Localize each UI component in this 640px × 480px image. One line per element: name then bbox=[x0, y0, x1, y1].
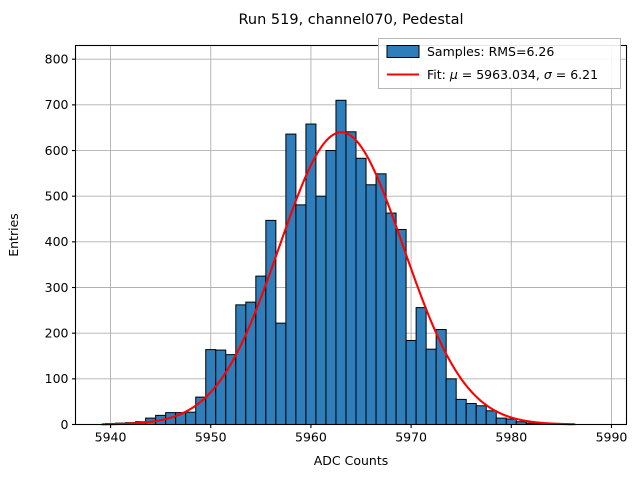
legend-label-fit: Fit: μ = 5963.034, σ = 6.21 bbox=[427, 67, 598, 82]
y-tick-label: 300 bbox=[45, 280, 69, 295]
histogram-bar bbox=[446, 379, 456, 425]
legend-swatch-samples bbox=[387, 46, 419, 58]
histogram-bar bbox=[366, 185, 376, 425]
histogram-bar bbox=[476, 406, 486, 425]
legend-fit-mu-symbol: μ bbox=[449, 67, 458, 82]
legend-fit-prefix: Fit: bbox=[427, 67, 450, 82]
x-axis-title: ADC Counts bbox=[314, 453, 389, 468]
y-axis-title: Entries bbox=[6, 213, 21, 257]
histogram-bar bbox=[416, 308, 426, 425]
x-tick-label: 5960 bbox=[295, 430, 327, 445]
histogram-bar bbox=[346, 132, 356, 425]
histogram-bar bbox=[296, 205, 306, 425]
x-tick-label: 5950 bbox=[195, 430, 227, 445]
histogram-bars bbox=[106, 100, 567, 424]
histogram-bar bbox=[306, 124, 316, 424]
histogram-bar bbox=[286, 134, 296, 424]
histogram-bar bbox=[266, 220, 276, 424]
histogram-bar bbox=[486, 411, 496, 425]
histogram-bar bbox=[426, 349, 436, 424]
y-tick-label: 400 bbox=[45, 234, 69, 249]
histogram-bar bbox=[496, 418, 506, 424]
y-tick-label: 700 bbox=[45, 97, 69, 112]
histogram-bar bbox=[326, 151, 336, 425]
histogram-plot: 0100200300400500600700800594059505960597… bbox=[0, 0, 640, 480]
histogram-bar bbox=[376, 174, 386, 425]
legend: Samples: RMS=6.26 Fit: μ = 5963.034, σ =… bbox=[379, 39, 621, 89]
y-tick-label: 100 bbox=[45, 371, 69, 386]
y-tick-label: 200 bbox=[45, 325, 69, 340]
x-tick-label: 5940 bbox=[95, 430, 127, 445]
y-tick-label: 600 bbox=[45, 143, 69, 158]
x-tick-label: 5990 bbox=[596, 430, 628, 445]
histogram-bar bbox=[406, 340, 416, 424]
figure-canvas: 0100200300400500600700800594059505960597… bbox=[0, 0, 640, 480]
x-tick-label: 5980 bbox=[495, 430, 527, 445]
histogram-bar bbox=[506, 419, 516, 424]
histogram-bar bbox=[316, 196, 326, 424]
y-tick-label: 0 bbox=[61, 417, 69, 432]
legend-fit-mu-value: 5963.034 bbox=[476, 67, 536, 82]
histogram-bar bbox=[276, 323, 286, 424]
x-tick-label: 5970 bbox=[395, 430, 427, 445]
histogram-bar bbox=[396, 230, 406, 425]
legend-label-samples: Samples: RMS=6.26 bbox=[427, 44, 554, 59]
y-tick-label: 800 bbox=[45, 51, 69, 66]
histogram-bar bbox=[236, 305, 246, 425]
histogram-bar bbox=[216, 350, 226, 424]
histogram-bar bbox=[386, 213, 396, 424]
page-title: Run 519, channel070, Pedestal bbox=[238, 12, 463, 28]
histogram-bar bbox=[466, 403, 476, 424]
legend-fit-eq2: = bbox=[552, 67, 570, 82]
legend-fit-comma: , bbox=[536, 67, 544, 82]
histogram-bar bbox=[186, 412, 196, 424]
legend-fit-eq1: = bbox=[458, 67, 476, 82]
legend-fit-sigma-value: 6.21 bbox=[570, 67, 598, 82]
histogram-bar bbox=[456, 399, 466, 424]
histogram-bar bbox=[336, 100, 346, 424]
histogram-bar bbox=[356, 158, 366, 424]
y-tick-label: 500 bbox=[45, 188, 69, 203]
